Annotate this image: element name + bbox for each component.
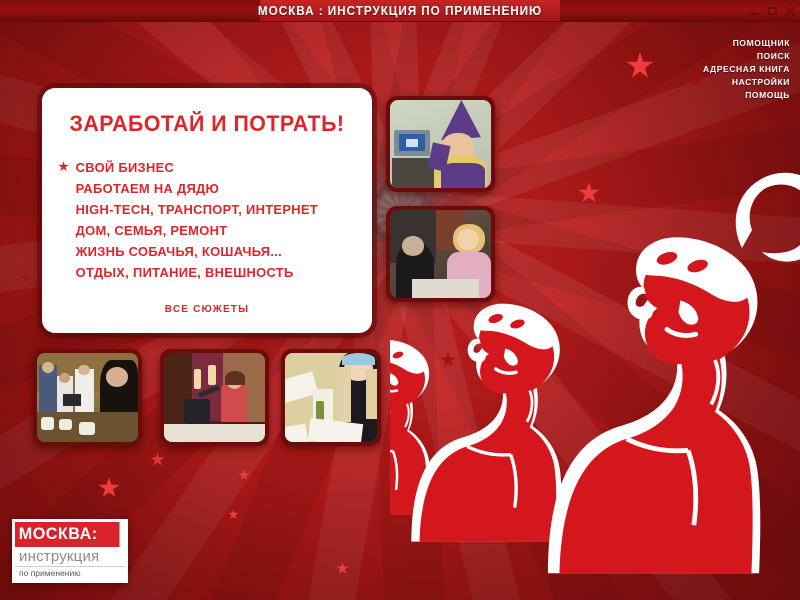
menu-item-assistant[interactable]: ПОМОЩНИК (733, 38, 790, 48)
logo-line-po-primeneniyu: по применению (15, 566, 125, 580)
window-title: МОСКВА : ИНСТРУКЦИЯ ПО ПРИМЕНЕНИЮ (24, 0, 776, 22)
topics-panel: ЗАРАБОТАЙ И ПОТРАТЬ! СВОЙ БИЗНЕС РАБОТАЕ… (42, 88, 372, 333)
thumb-woman-at-desk[interactable] (386, 206, 495, 302)
thumb-image (285, 353, 377, 442)
soviet-workers-poster (390, 130, 800, 600)
panel-heading: ЗАРАБОТАЙ И ПОТРАТЬ! (47, 111, 367, 137)
topic-item-home-family[interactable]: ДОМ, СЕМЬЯ, РЕМОНТ (58, 220, 366, 241)
menu-item-settings[interactable]: НАСТРОЙКИ (732, 77, 790, 87)
topic-item-pets[interactable]: ЖИЗНЬ СОБАЧЬЯ, КОШАЧЬЯ... (58, 241, 366, 262)
thumb-image (390, 210, 491, 298)
thumb-cafe-counter[interactable] (33, 349, 142, 446)
thumb-radio-studio[interactable] (160, 349, 269, 446)
app-stage: ПОМОЩНИК ПОИСК АДРЕСНАЯ КНИГА НАСТРОЙКИ … (0, 22, 800, 600)
minimize-icon[interactable] (749, 6, 760, 17)
thumb-woman-with-papers[interactable] (281, 349, 381, 446)
brand-logo[interactable]: МОСКВА: инструкция по применению (12, 519, 128, 583)
thumb-image (390, 100, 491, 188)
menu-item-help[interactable]: ПОМОЩЬ (745, 90, 790, 100)
restore-icon[interactable] (767, 6, 778, 17)
logo-line-moskva: МОСКВА: (15, 522, 120, 547)
topic-item-own-business[interactable]: СВОЙ БИЗНЕС (58, 157, 366, 178)
thumb-image (37, 353, 138, 442)
logo-line-instruktsiya: инструкция (15, 547, 125, 565)
close-icon[interactable] (785, 6, 796, 17)
window-controls (749, 2, 796, 20)
thumb-wizard-at-computer[interactable] (386, 96, 495, 192)
topic-item-working[interactable]: РАБОТАЕМ НА ДЯДЮ (58, 178, 366, 199)
topic-item-leisure[interactable]: ОТДЫХ, ПИТАНИЕ, ВНЕШНОСТЬ (58, 262, 366, 283)
all-topics-link[interactable]: ВСЕ СЮЖЕТЫ (42, 304, 372, 315)
menu-item-address-book[interactable]: АДРЕСНАЯ КНИГА (703, 64, 790, 74)
window-titlebar: МОСКВА : ИНСТРУКЦИЯ ПО ПРИМЕНЕНИЮ (0, 0, 800, 22)
thumb-image (164, 353, 265, 442)
topics-list: СВОЙ БИЗНЕС РАБОТАЕМ НА ДЯДЮ HIGH-TECH, … (58, 157, 372, 283)
top-menu: ПОМОЩНИК ПОИСК АДРЕСНАЯ КНИГА НАСТРОЙКИ … (703, 38, 790, 100)
topic-item-high-tech[interactable]: HIGH-TECH, ТРАНСПОРТ, ИНТЕРНЕТ (58, 199, 366, 220)
menu-item-search[interactable]: ПОИСК (757, 51, 790, 61)
decorative-star (228, 509, 239, 520)
